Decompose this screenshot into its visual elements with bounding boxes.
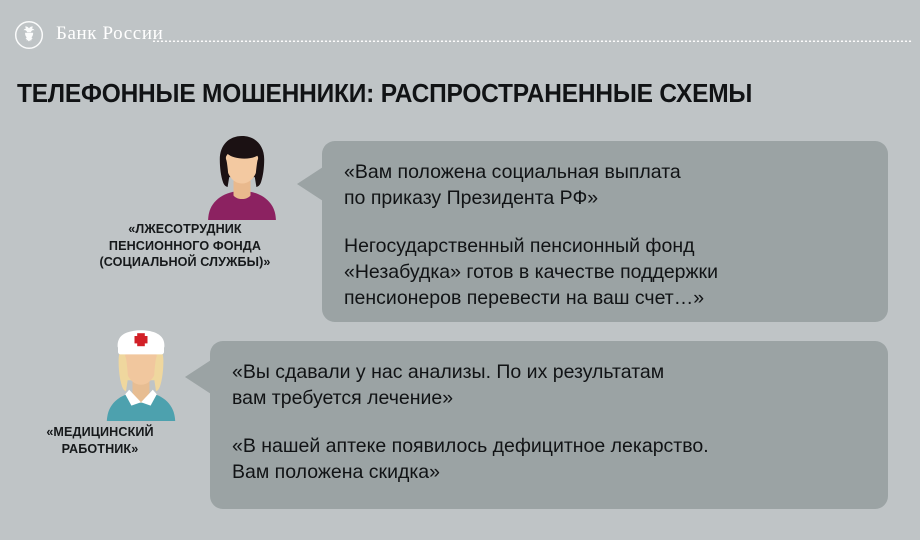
- caption-pension-fund: «ЛЖЕСОТРУДНИК ПЕНСИОННОГО ФОНДА (СОЦИАЛЬ…: [60, 221, 310, 271]
- nurse-avatar-icon: [82, 328, 200, 424]
- page-title: ТЕЛЕФОННЫЕ МОШЕННИКИ: РАСПРОСТРАНЕННЫЕ С…: [17, 80, 752, 109]
- double-headed-eagle-emblem-icon: [14, 20, 44, 50]
- quote-medic-2: «В нашей аптеке появилось дефицитное лек…: [232, 433, 868, 485]
- caption-medical-worker: «МЕДИЦИНСКИЙ РАБОТНИК»: [0, 424, 200, 457]
- speech-bubble-medical-worker: «Вы сдавали у нас анализы. По их результ…: [210, 341, 888, 509]
- brand-name: Банк России: [56, 23, 163, 45]
- slide-canvas: Банк России ТЕЛЕФОННЫЕ МОШЕННИКИ: РАСПРО…: [0, 0, 920, 540]
- woman-dark-bob-avatar-icon: [186, 133, 298, 223]
- paragraph-gap: [344, 211, 868, 233]
- bubble-tail-pension: [297, 167, 323, 201]
- header-bar: Банк России: [0, 0, 920, 58]
- quote-pension-1: «Вам положена социальная выплата по прик…: [344, 159, 868, 211]
- speech-bubble-pension-fund: «Вам положена социальная выплата по прик…: [322, 141, 888, 322]
- paragraph-gap: [232, 411, 868, 433]
- dotted-divider-icon: [152, 39, 912, 42]
- quote-medic-1: «Вы сдавали у нас анализы. По их результ…: [232, 359, 868, 411]
- bubble-tail-medic: [185, 360, 211, 394]
- quote-pension-2: Негосударственный пенсионный фонд «Незаб…: [344, 233, 868, 311]
